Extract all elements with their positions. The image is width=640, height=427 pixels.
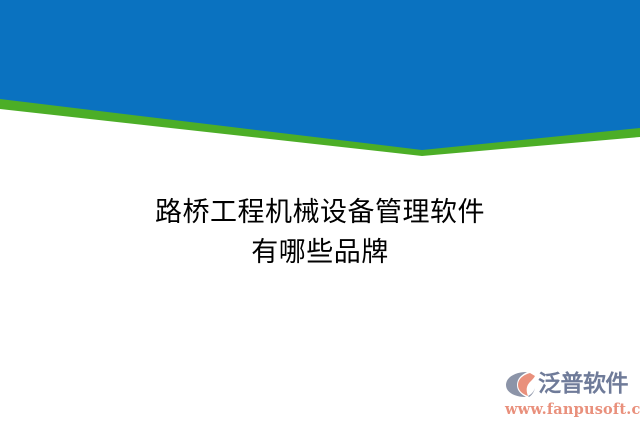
title-line-1: 路桥工程机械设备管理软件 [0,193,640,233]
brand-logo: 泛普软件 www.fanpusoft.com [503,368,640,420]
page-title: 路桥工程机械设备管理软件 有哪些品牌 [0,193,640,273]
logo-website-url: www.fanpusoft.com [505,401,640,419]
top-chevron-banner [0,0,640,170]
title-line-2: 有哪些品牌 [0,233,640,273]
logo-wordmark: 泛普软件 [538,369,628,399]
slide-canvas: 路桥工程机械设备管理软件 有哪些品牌 泛普软件 www.fanpusoft.co… [0,0,640,427]
logo-top-row: 泛普软件 [503,368,640,400]
fanpu-crescent-icon [503,369,537,399]
banner-blue-shape [0,0,640,150]
